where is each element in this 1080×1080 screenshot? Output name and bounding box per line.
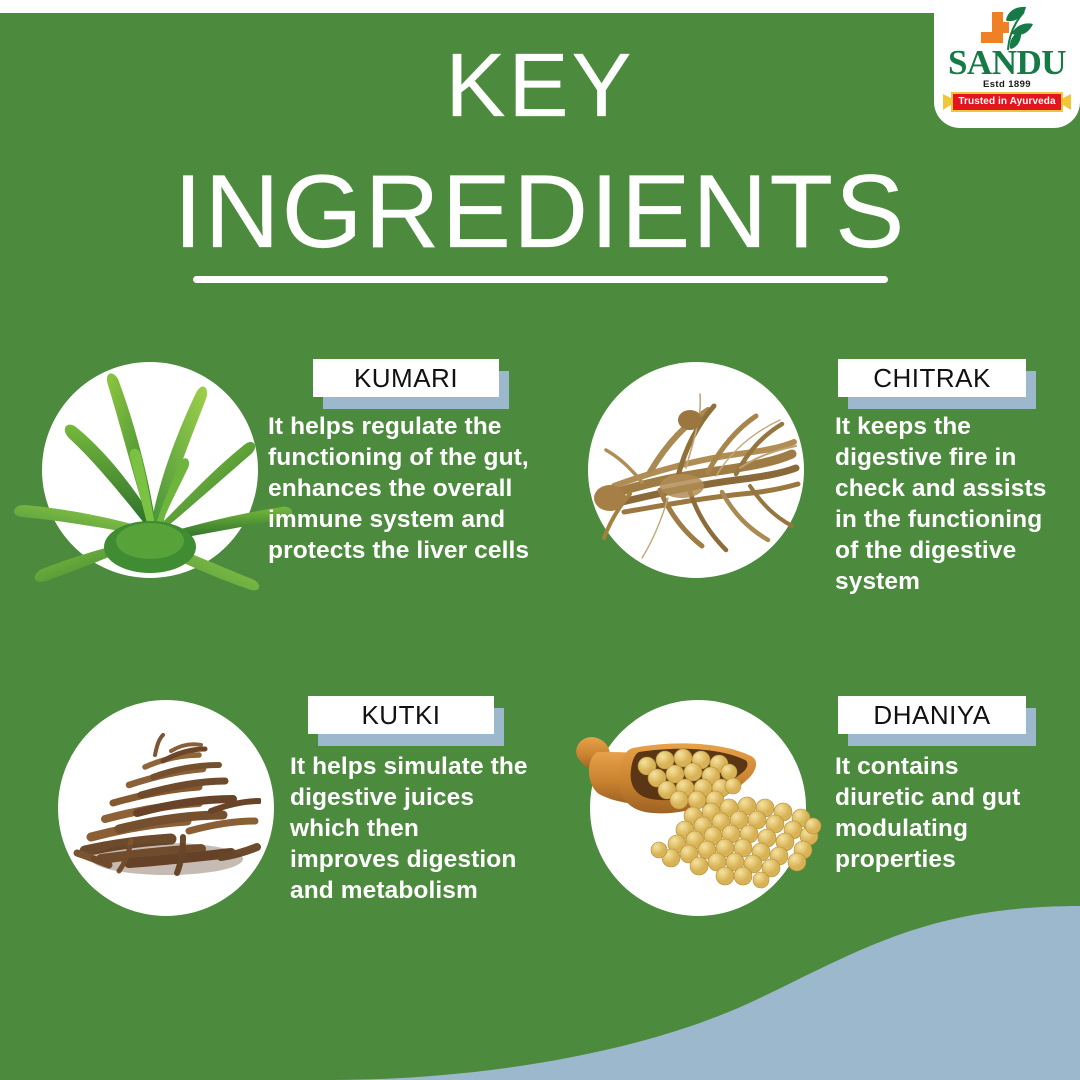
ingredient-image-dhaniya: [590, 700, 806, 916]
ingredient-description-kutki: It helps simulate the digestive juices w…: [290, 751, 535, 906]
ingredient-description-chitrak: It keeps the digestive fire in check and…: [835, 411, 1053, 597]
ingredient-name: DHANIYA: [873, 700, 990, 731]
ingredient-name: KUTKI: [361, 700, 440, 731]
brand-established: Estd 1899: [983, 79, 1031, 90]
ingredient-description-kumari: It helps regulate the functioning of the…: [268, 411, 543, 566]
ingredient-label-chitrak: CHITRAK: [838, 359, 1026, 397]
brand-ribbon: Trusted in Ayurveda: [943, 92, 1071, 112]
ingredient-label-dhaniya: DHANIYA: [838, 696, 1026, 734]
ingredient-image-chitrak: [588, 362, 804, 578]
brand-wordmark: SANDU: [948, 47, 1066, 79]
brand-logo[interactable]: SANDU Estd 1899 Trusted in Ayurveda: [934, 0, 1080, 128]
chitrak-dried-roots-photo: [590, 380, 802, 560]
ingredient-name: CHITRAK: [873, 363, 991, 394]
title-line-2: INGREDIENTS: [0, 160, 1080, 264]
ingredient-label-kumari: KUMARI: [313, 359, 499, 397]
title-line-1: KEY: [0, 34, 1080, 138]
title-underline: [193, 276, 888, 283]
ingredient-image-kutki: [58, 700, 274, 916]
brand-tagline: Trusted in Ayurveda: [943, 92, 1071, 112]
ingredient-image-kumari: [42, 362, 258, 578]
coriander-seeds-wooden-scoop-photo: [573, 708, 823, 908]
aloe-vera-plant-photo: [0, 335, 300, 605]
kutki-dried-rhizome-photo: [71, 733, 261, 883]
ingredient-description-dhaniya: It contains diuretic and gut modulating …: [835, 751, 1053, 875]
page-title: KEY INGREDIENTS: [0, 34, 1080, 283]
key-ingredients-poster: SANDU Estd 1899 Trusted in Ayurveda KEY …: [0, 0, 1080, 1080]
ingredient-name: KUMARI: [354, 363, 458, 394]
ingredient-label-kutki: KUTKI: [308, 696, 494, 734]
